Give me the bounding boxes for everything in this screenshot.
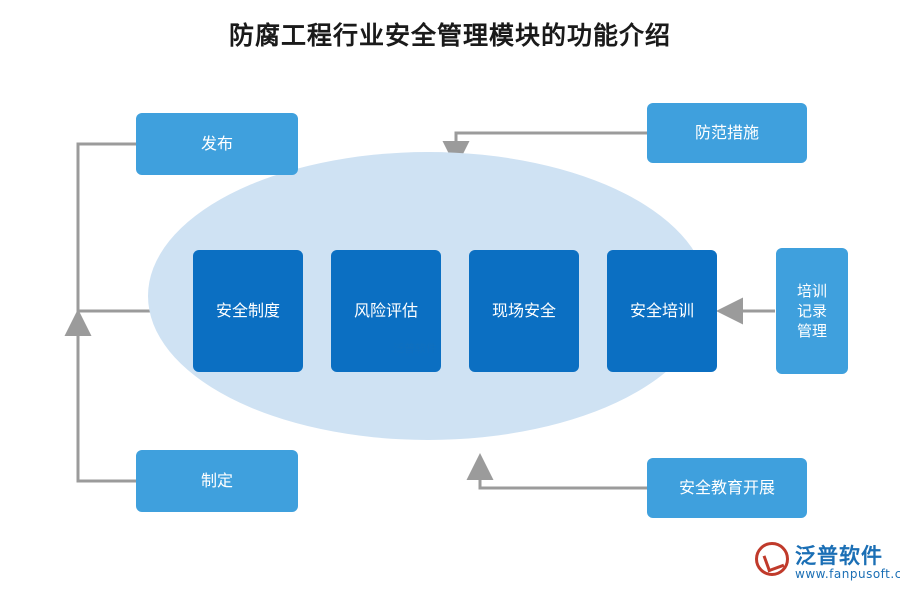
arrow-education-to-center: [480, 459, 650, 488]
brand-logo: 泛普软件 www.fanpusoft.com: [755, 540, 885, 586]
node-preventive-measures[interactable]: 防范措施: [647, 103, 807, 163]
arrow-formulate-to-spine: [78, 315, 138, 481]
node-label: 安全教育开展: [679, 477, 775, 499]
node-label: 现场安全: [492, 300, 556, 322]
diagram-canvas: 防腐工程行业安全管理模块的功能介绍 安全制度 风: [0, 0, 900, 600]
node-label: 防范措施: [695, 122, 759, 144]
node-training-record-management[interactable]: 培训 记录 管理: [776, 248, 848, 374]
watermark-text: 泛普软件: [380, 340, 450, 358]
node-label: 安全培训: [630, 300, 694, 322]
node-safety-system[interactable]: 安全制度: [193, 250, 303, 372]
node-label: 制定: [201, 470, 233, 492]
node-label: 安全制度: [216, 300, 280, 322]
logo-url: www.fanpusoft.com: [795, 567, 900, 581]
node-safety-training[interactable]: 安全培训: [607, 250, 717, 372]
logo-mark-icon: [755, 542, 789, 576]
node-site-safety[interactable]: 现场安全: [469, 250, 579, 372]
node-safety-education[interactable]: 安全教育开展: [647, 458, 807, 518]
node-label: 培训 记录 管理: [797, 281, 827, 342]
node-label: 发布: [201, 133, 233, 155]
node-formulate[interactable]: 制定: [136, 450, 298, 512]
node-publish[interactable]: 发布: [136, 113, 298, 175]
logo-name: 泛普软件: [795, 540, 883, 570]
node-label: 风险评估: [354, 300, 418, 322]
